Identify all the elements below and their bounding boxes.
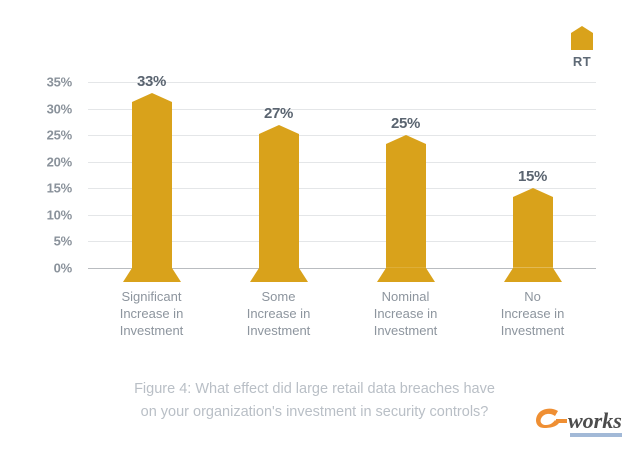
y-axis-tick-label: 20% xyxy=(47,154,72,169)
chart-legend: RT xyxy=(552,26,612,69)
figure-caption-line-1: Figure 4: What effect did large retail d… xyxy=(0,378,629,401)
category-label-line: Increase in xyxy=(215,305,342,322)
category-label-line: Investment xyxy=(88,322,215,339)
bar-value-label: 15% xyxy=(518,168,547,185)
x-axis-category-label: SomeIncrease inInvestment xyxy=(215,288,342,339)
category-label-line: No xyxy=(469,288,596,305)
category-label-line: Significant xyxy=(88,288,215,305)
bar-value-label: 25% xyxy=(391,115,420,132)
bar-value-label: 27% xyxy=(264,105,293,122)
x-axis-category-label: SignificantIncrease inInvestment xyxy=(88,288,215,339)
bar-pedestal xyxy=(123,268,181,282)
category-label-line: Investment xyxy=(342,322,469,339)
category-label-line: Some xyxy=(215,288,342,305)
category-label-line: Investment xyxy=(215,322,342,339)
bar[interactable]: 27% xyxy=(259,125,299,268)
y-axis-tick-label: 5% xyxy=(54,234,72,249)
bar-slot: 27% xyxy=(215,82,342,268)
y-axis-tick-label: 30% xyxy=(47,101,72,116)
figure-caption-line-2: on your organization's investment in sec… xyxy=(0,401,629,424)
bar-slot: 33% xyxy=(88,82,215,268)
x-axis-category-label: NominalIncrease inInvestment xyxy=(342,288,469,339)
y-axis-tick-label: 35% xyxy=(47,75,72,90)
category-label-line: Increase in xyxy=(88,305,215,322)
y-axis-tick-label: 0% xyxy=(54,261,72,276)
category-label-line: Increase in xyxy=(469,305,596,322)
x-axis-category-labels: SignificantIncrease inInvestmentSomeIncr… xyxy=(88,288,596,350)
y-axis-tick-label: 25% xyxy=(47,128,72,143)
figure-container: RT 0%5%10%15%20%25%30%35% 33%27%25%15% S… xyxy=(0,0,629,451)
bar-value-label: 33% xyxy=(137,73,166,90)
legend-swatch-icon xyxy=(571,26,593,50)
bar-slot: 15% xyxy=(469,82,596,268)
figure-caption: Figure 4: What effect did large retail d… xyxy=(0,378,629,424)
legend-label-rt: RT xyxy=(552,54,612,69)
y-axis-tick-label: 10% xyxy=(47,207,72,222)
x-axis-category-label: NoIncrease inInvestment xyxy=(469,288,596,339)
y-axis-tick-label: 15% xyxy=(47,181,72,196)
bar[interactable]: 33% xyxy=(132,93,172,268)
bars-layer: 33%27%25%15% xyxy=(88,82,596,268)
bar-pedestal xyxy=(504,268,562,282)
y-axis: 0%5%10%15%20%25%30%35% xyxy=(0,82,80,268)
bar[interactable]: 15% xyxy=(513,188,553,268)
bar[interactable]: 25% xyxy=(386,135,426,268)
category-label-line: Investment xyxy=(469,322,596,339)
category-label-line: Nominal xyxy=(342,288,469,305)
bar-pedestal xyxy=(250,268,308,282)
bar-slot: 25% xyxy=(342,82,469,268)
category-label-line: Increase in xyxy=(342,305,469,322)
bar-pedestal xyxy=(377,268,435,282)
